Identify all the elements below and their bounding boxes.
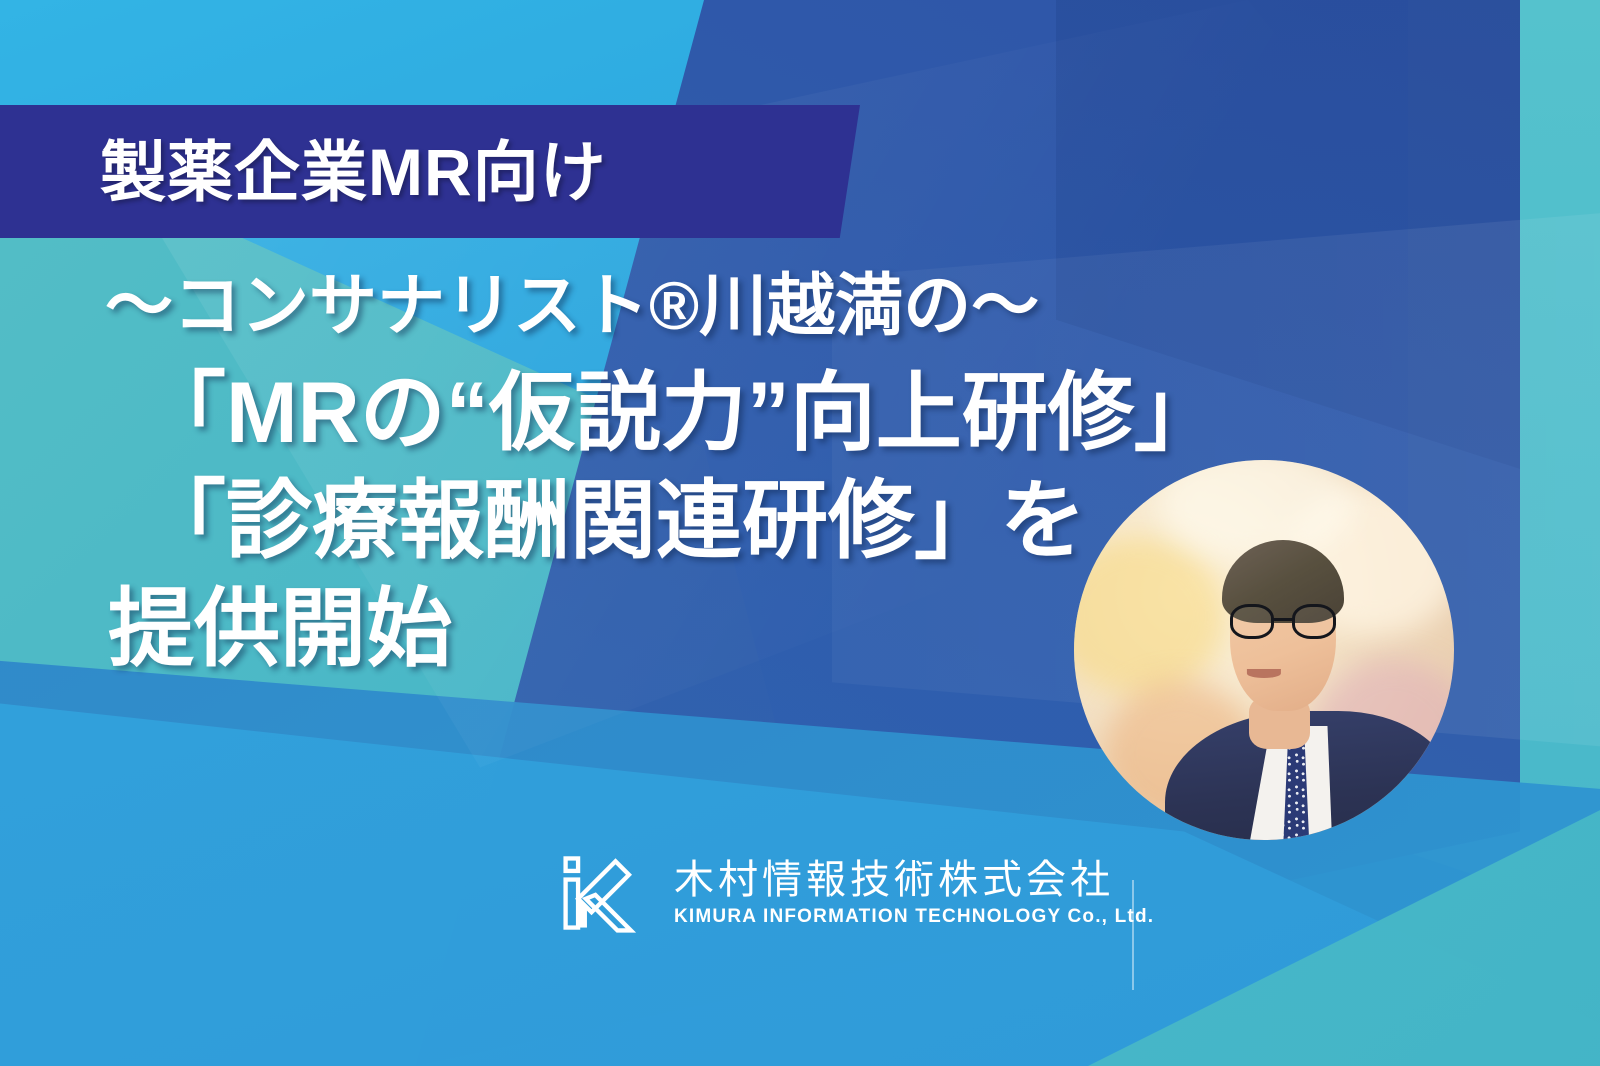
portrait-glasses-icon: [1230, 604, 1336, 638]
headline-line-3: 提供開始: [108, 586, 1180, 672]
headline-line-2: 「診療報酬関連研修」を: [140, 478, 1180, 564]
headline-subtitle: 〜コンサナリスト®川越満の〜: [105, 272, 1180, 340]
portrait-person: [1074, 460, 1454, 840]
company-logo-text: 木村情報技術株式会社 KIMURA INFORMATION TECHNOLOGY…: [674, 860, 1154, 926]
kimura-k-mark-icon: [556, 845, 652, 941]
glasses-right-lens: [1292, 604, 1337, 638]
headline-line-1: 「MRの“仮説力”向上研修」: [140, 370, 1180, 456]
company-name-jp: 木村情報技術株式会社: [674, 860, 1154, 900]
logo-divider: [1132, 880, 1134, 990]
press-release-banner: 製薬企業MR向け 〜コンサナリスト®川越満の〜 「MRの“仮説力”向上研修」 「…: [0, 0, 1600, 1066]
glasses-left-lens: [1230, 604, 1275, 638]
category-badge: 製薬企業MR向け: [0, 105, 860, 238]
speaker-portrait: [1074, 460, 1454, 840]
company-name-en: KIMURA INFORMATION TECHNOLOGY Co., Ltd.: [674, 907, 1154, 926]
company-logo: 木村情報技術株式会社 KIMURA INFORMATION TECHNOLOGY…: [556, 845, 1154, 941]
headline-block: 〜コンサナリスト®川越満の〜 「MRの“仮説力”向上研修」 「診療報酬関連研修」…: [0, 272, 1180, 672]
category-badge-label: 製薬企業MR向け: [100, 139, 607, 205]
glasses-bridge: [1273, 618, 1292, 621]
